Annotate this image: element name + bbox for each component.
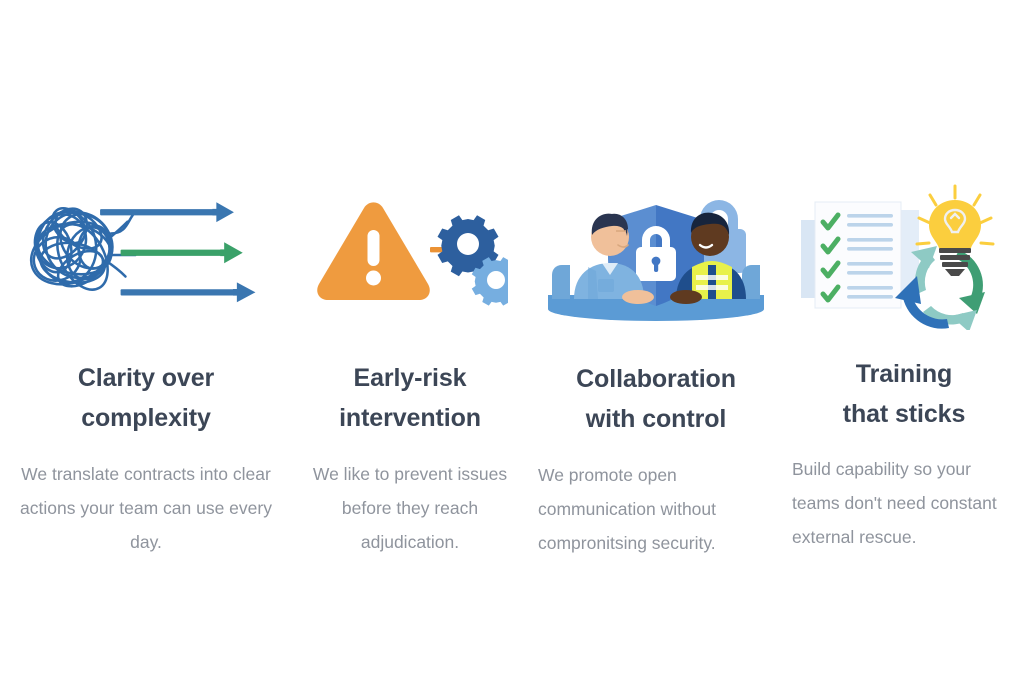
feature-title-line-2: intervention [339,404,481,432]
feature-title: Clarity over complexity [78,359,214,438]
feature-description: Build capability so your teams don't nee… [792,452,1016,554]
feature-columns: Clarity over complexity We translate con… [0,180,1024,560]
feature-title-line-2: complexity [81,404,211,432]
feature-title-line-2: with control [586,405,726,433]
feature-card-early-risk-intervention: Early-risk intervention We like to preve… [292,180,528,559]
feature-description: We promote open communication without co… [538,458,774,560]
checklist-lightbulb-cycle-icon [792,180,1016,330]
feature-title-line-1: Collaboration [576,365,736,393]
feature-title-line-1: Clarity over [78,364,214,392]
feature-card-collaboration-with-control: Collaboration with control We promote op… [528,180,784,560]
feature-title-line-1: Early-risk [354,364,467,392]
feature-title: Early-risk intervention [339,359,481,438]
feature-title: Collaboration with control [576,360,736,439]
two-people-shield-lock-icon [538,180,774,330]
feature-title-line-2: that sticks [843,400,966,428]
feature-description: We translate contracts into clear action… [18,457,274,559]
feature-title-line-1: Training [856,360,952,388]
feature-card-training-that-sticks: Training that sticks Build capability so… [784,180,1024,554]
tangled-scribble-to-arrows-icon [18,180,274,330]
feature-description: We like to prevent issues before they re… [300,457,520,559]
warning-triangle-gears-icon [300,180,520,330]
feature-card-clarity-over-complexity: Clarity over complexity We translate con… [0,180,292,559]
feature-title: Training that sticks [843,355,966,434]
